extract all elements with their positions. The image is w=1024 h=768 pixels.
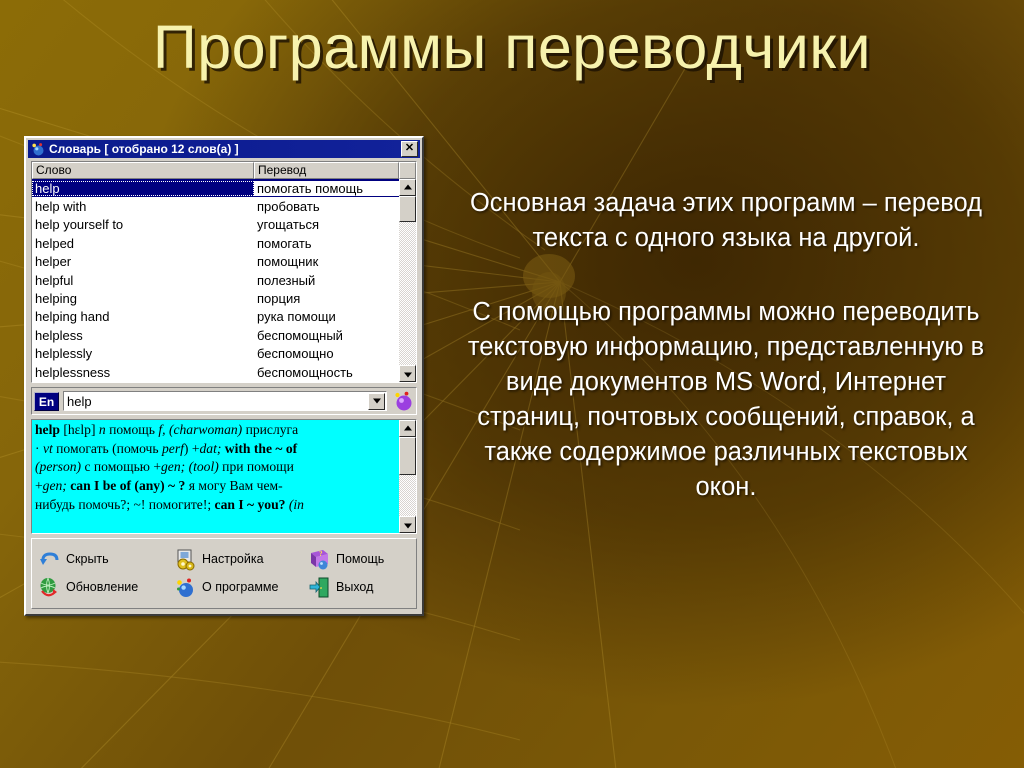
table-row[interactable]: helperпомощник: [32, 253, 399, 271]
toolbar-button-help[interactable]: ? Помощь: [308, 548, 412, 571]
search-input[interactable]: help: [64, 394, 368, 409]
cell-word: helping hand: [32, 309, 254, 324]
cell-word: helpless: [32, 328, 254, 343]
definition-panel: help [hɛlp] n помощь f, (charwoman) прис…: [31, 419, 417, 534]
cell-translation: помогать: [254, 236, 399, 251]
table-row[interactable]: helping handрука помощи: [32, 308, 399, 326]
definition-line: help [hɛlp] n помощь f, (charwoman) прис…: [35, 421, 396, 440]
word-list-header: Слово Перевод: [32, 162, 416, 179]
table-row[interactable]: help withпробовать: [32, 197, 399, 215]
undo-arrow-icon: [38, 548, 61, 571]
cell-word: helplessness: [32, 365, 254, 380]
cell-translation: рука помощи: [254, 309, 399, 324]
table-row[interactable]: helplessnessбеспомощность: [32, 363, 399, 381]
page-title: Программы переводчики: [0, 8, 1024, 86]
cell-translation: беспомощный: [254, 328, 399, 343]
definition-scroll-track[interactable]: [399, 437, 416, 516]
about-sphere-icon: [174, 576, 197, 599]
cell-translation: полезный: [254, 273, 399, 288]
toolbar-button-update[interactable]: Обновление: [38, 576, 174, 599]
cell-translation: помощник: [254, 254, 399, 269]
table-row[interactable]: helpedпомогать: [32, 234, 399, 252]
table-row[interactable]: helpfulполезный: [32, 271, 399, 289]
scroll-up-icon[interactable]: [399, 179, 416, 196]
exit-door-icon: [308, 576, 331, 599]
globe-update-icon: [38, 576, 61, 599]
table-row[interactable]: helplesslyбеспомощно: [32, 345, 399, 363]
word-list-rows[interactable]: helpпомогать помощьhelp withпробоватьhel…: [32, 179, 399, 382]
window-client-area: Слово Перевод helpпомогать помощьhelp wi…: [28, 158, 420, 612]
cell-word: help yourself to: [32, 217, 254, 232]
search-combobox[interactable]: help: [63, 391, 387, 411]
scroll-down-icon[interactable]: [399, 365, 416, 382]
toolbar-label-about: О программе: [202, 580, 278, 594]
word-list-body: helpпомогать помощьhelp withпробоватьhel…: [32, 179, 416, 382]
definition-line: (person) с помощью +gen; (tool) при помо…: [35, 458, 396, 477]
slide-body-text: Основная задача этих программ – перевод …: [452, 186, 1000, 505]
paragraph-2: С помощью программы можно переводить тек…: [452, 295, 1000, 505]
definition-scroll-thumb[interactable]: [399, 437, 416, 475]
toolbar-button-exit[interactable]: Выход: [308, 576, 412, 599]
scroll-thumb[interactable]: [399, 196, 416, 222]
toolbar-label-exit: Выход: [336, 580, 373, 594]
window-title-text: Словарь [ отобрано 12 слов(а) ]: [49, 142, 401, 156]
column-header-word[interactable]: Слово: [32, 162, 254, 179]
cell-translation: помогать помощь: [254, 181, 399, 196]
definition-line: нибудь помочь?; ~! помогите!; can I ~ yo…: [35, 496, 396, 515]
toolbar-button-hide[interactable]: Скрыть: [38, 548, 174, 571]
cell-word: help with: [32, 199, 254, 214]
word-list: Слово Перевод helpпомогать помощьhelp wi…: [31, 161, 417, 383]
table-row[interactable]: help yourself toугощаться: [32, 216, 399, 234]
cell-translation: угощаться: [254, 217, 399, 232]
header-scroll-spacer: [399, 162, 416, 179]
cell-word: helpful: [32, 273, 254, 288]
definition-line: +gen; can I be of (any) ~ ? я могу Вам ч…: [35, 477, 396, 496]
bottom-toolbar: Скрыть: [31, 538, 417, 609]
cell-translation: беспомощность: [254, 365, 399, 380]
app-sphere-icon: [31, 142, 45, 156]
table-row[interactable]: helpпомогать помощь: [32, 179, 399, 197]
presentation-slide: Программы переводчики Основная задача эт…: [0, 0, 1024, 768]
close-icon[interactable]: ✕: [401, 141, 418, 157]
cell-word: help: [32, 181, 254, 196]
cell-translation: беспомощно: [254, 346, 399, 361]
definition-line: · vt помогать (помочь perf) +dat; with t…: [35, 440, 396, 459]
dictionary-window: Словарь [ отобрано 12 слов(а) ] ✕ Слово …: [24, 136, 424, 616]
definition-scroll-up-icon[interactable]: [399, 420, 416, 437]
column-header-translation[interactable]: Перевод: [254, 162, 399, 179]
toolbar-label-update: Обновление: [66, 580, 138, 594]
help-book-icon: ?: [308, 548, 331, 571]
cell-word: helper: [32, 254, 254, 269]
svg-text:?: ?: [319, 550, 323, 558]
scroll-track[interactable]: [399, 196, 416, 365]
word-list-scrollbar[interactable]: [399, 179, 416, 382]
language-button[interactable]: En: [34, 392, 59, 411]
cell-word: helping: [32, 291, 254, 306]
toolbar-button-about[interactable]: О программе: [174, 576, 308, 599]
gears-settings-icon: [174, 548, 197, 571]
lookup-sphere-icon[interactable]: [392, 390, 414, 412]
table-row[interactable]: helplessбеспомощный: [32, 326, 399, 344]
toolbar-button-settings[interactable]: Настройка: [174, 548, 308, 571]
table-row[interactable]: helpingпорция: [32, 289, 399, 307]
paragraph-1: Основная задача этих программ – перевод …: [452, 186, 1000, 256]
toolbar-row-1: Скрыть: [38, 545, 412, 573]
toolbar-label-hide: Скрыть: [66, 552, 109, 566]
cell-word: helplessly: [32, 346, 254, 361]
definition-text[interactable]: help [hɛlp] n помощь f, (charwoman) прис…: [32, 420, 399, 533]
cell-word: helped: [32, 236, 254, 251]
window-titlebar: Словарь [ отобрано 12 слов(а) ] ✕: [28, 140, 420, 158]
definition-scroll-down-icon[interactable]: [399, 516, 416, 533]
search-bar: En help: [31, 387, 417, 415]
cell-translation: порция: [254, 291, 399, 306]
chevron-down-icon[interactable]: [368, 393, 385, 410]
cell-translation: пробовать: [254, 199, 399, 214]
toolbar-label-help: Помощь: [336, 552, 384, 566]
toolbar-row-2: Обновление О программе: [38, 573, 412, 601]
toolbar-label-settings: Настройка: [202, 552, 264, 566]
definition-scrollbar[interactable]: [399, 420, 416, 533]
